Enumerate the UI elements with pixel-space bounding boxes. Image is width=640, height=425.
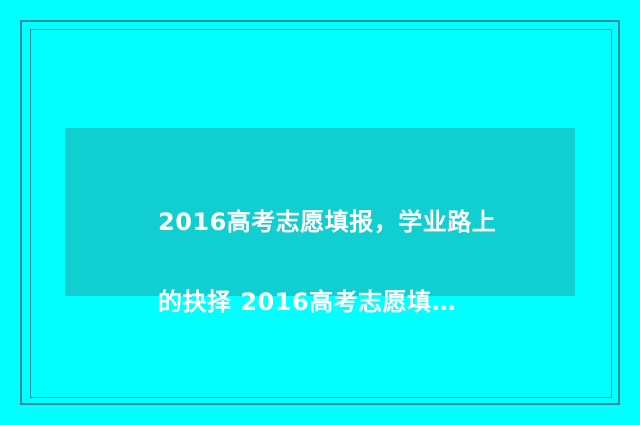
banner-headline: 2016高考志愿填报，学业路上 的抉择 2016高考志愿填… bbox=[158, 162, 558, 362]
banner-headline-line-1: 2016高考志愿填报，学业路上 bbox=[158, 202, 558, 242]
banner-panel: 2016高考志愿填报，学业路上 的抉择 2016高考志愿填… bbox=[65, 128, 575, 296]
banner-headline-line-2: 的抉择 2016高考志愿填… bbox=[158, 282, 558, 322]
page-canvas: 2016高考志愿填报，学业路上 的抉择 2016高考志愿填… bbox=[0, 0, 640, 425]
